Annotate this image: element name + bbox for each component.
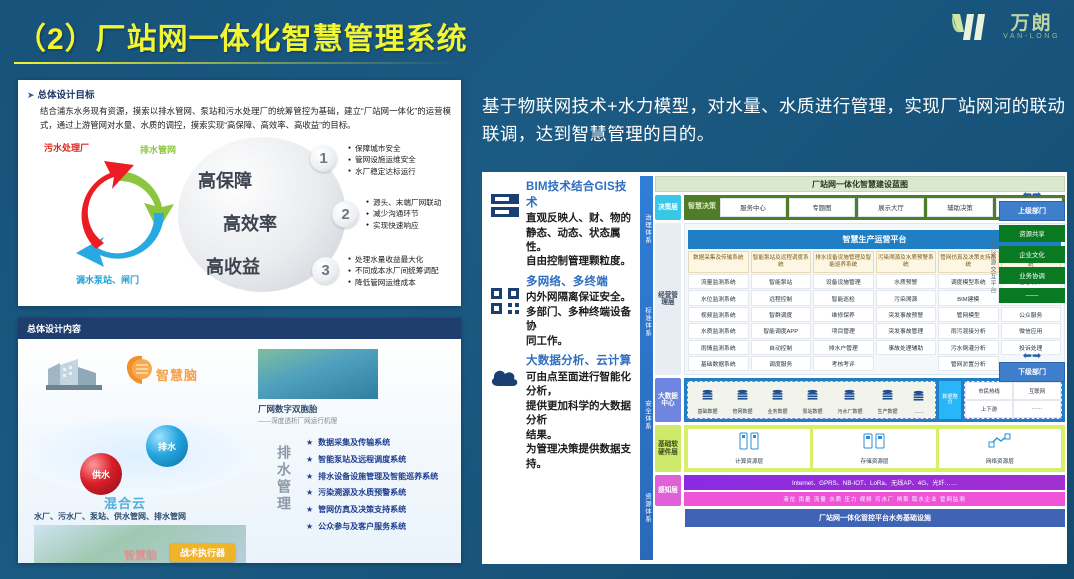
list-item: 管网仿真及决策支持系统 xyxy=(306,502,438,519)
pillar-1: 高保障 xyxy=(198,167,252,193)
system-cell[interactable]: 基础数据系统 xyxy=(688,356,749,371)
superior-department-button[interactable]: 上级部门 xyxy=(999,201,1065,221)
database-icon xyxy=(806,389,819,402)
system-cell[interactable]: 智能巡检 xyxy=(813,290,874,305)
architecture-figure: BIM技术结合GIS技术 直观反映人、财、物的 静态、动态、状态属性。 自由控制… xyxy=(482,172,1067,564)
side-system: 标准体系 xyxy=(642,307,652,337)
feature-line: 多部门、多种终端设备协 xyxy=(526,305,636,334)
infrastructure-item[interactable]: 计算资源层 xyxy=(688,429,810,468)
database-caption: 泵站数据 xyxy=(802,408,822,415)
system-cell[interactable]: 智能泵站 xyxy=(751,274,812,289)
feature-line: 内外网隔离保证安全。 xyxy=(526,290,636,304)
decision-box[interactable]: 专题图 xyxy=(789,198,855,217)
sphere-drainage: 排水 xyxy=(146,425,188,467)
database-caption: …… xyxy=(912,409,925,415)
database-icon xyxy=(701,389,714,402)
feature-line: 静态、动态、状态属性。 xyxy=(526,226,636,255)
system-cell[interactable]: 维修保养 xyxy=(813,307,874,322)
side-system: 资源体系 xyxy=(642,493,652,523)
label-wastewater-plant: 污水处理厂 xyxy=(44,141,89,154)
database-icon xyxy=(843,389,856,402)
system-cell[interactable]: 事故处理辅助 xyxy=(876,340,937,355)
system-cell[interactable]: 污水倒灌分析 xyxy=(938,340,999,355)
infrastructure-item[interactable]: 存储资源层 xyxy=(813,429,935,468)
system-cell[interactable]: 智群调度 xyxy=(751,307,812,322)
design-content-heading: 总体设计内容 xyxy=(18,318,461,339)
public-resource-platform-label: 公共资源交互平台 xyxy=(988,238,997,294)
system-cell[interactable]: 排水户管理 xyxy=(813,340,874,355)
list-item: 数据采集及传输系统 xyxy=(306,435,438,452)
feature-head: 大数据分析、云计算 xyxy=(526,354,636,370)
side-system: 治理体系 xyxy=(642,214,652,244)
layer-tag-sensing: 感知层 xyxy=(655,475,681,506)
database-item[interactable]: 泵站数据 xyxy=(802,389,822,415)
feature-head: 多网络、多终端 xyxy=(526,275,636,291)
architecture-feature-list: BIM技术结合GIS技术 直观反映人、财、物的 静态、动态、状态属性。 自由控制… xyxy=(482,172,642,564)
drainage-management-vertical-label: 排水管理 xyxy=(274,445,294,513)
external-green-item[interactable]: 资源共享 xyxy=(999,225,1065,242)
label-drainage-network: 排水管网 xyxy=(140,143,176,156)
system-cell[interactable]: 智能调度APP xyxy=(751,323,812,338)
subordinate-department-button[interactable]: 下级部门 xyxy=(999,362,1065,382)
design-goal-paragraph: 结合浦东水务现有资源，摸索以排水管网、泵站和污水处理厂的统筹管控为基础，建立“厂… xyxy=(18,102,461,133)
layer-tag-management: 经营管理层 xyxy=(655,223,681,375)
decision-box[interactable]: 服务中心 xyxy=(720,198,786,217)
database-caption: 基础数据 xyxy=(697,408,717,415)
system-cell[interactable]: 雨情监测系统 xyxy=(688,340,749,355)
double-arrow-icon-bottom: ⬅➡ xyxy=(999,351,1065,362)
goal-bullets-3: 处理水量收益最大化不同成本水厂间统筹调配降低管网运维成本 xyxy=(348,254,439,289)
brain-icon xyxy=(122,353,156,387)
layer-tag-infrastructure: 基础软硬件层 xyxy=(655,425,681,472)
database-icon xyxy=(881,389,894,402)
system-cell[interactable]: 水位监测系统 xyxy=(688,290,749,305)
infrastructure-caption: 存储资源层 xyxy=(814,457,934,465)
cloud-icon xyxy=(490,354,520,393)
system-cell[interactable]: 调度服务 xyxy=(751,356,812,371)
architecture-side-systems: 治理体系 标准体系 安全体系 资源体系 xyxy=(640,176,653,560)
feature-line: 直观反映人、财、物的 xyxy=(526,211,636,225)
design-content-card: 总体设计内容 智慧脑 排水 供水 混合云 水厂、污水厂、泵站、供水管网、排水管网… xyxy=(18,318,461,563)
database-icon xyxy=(771,389,784,402)
system-list: 数据采集及传输系统 智能泵站及远程调度系统 排水设备设施管理及智能巡养系统 污染… xyxy=(306,435,438,536)
brand-logo: 万朗 VAN-LONG xyxy=(950,10,1060,44)
decision-box[interactable]: 展示大厅 xyxy=(858,198,924,217)
compute-icon xyxy=(736,432,762,450)
layer-tag-bigdata: 大数据中心 xyxy=(655,378,681,422)
system-cell[interactable]: 视频监测系统 xyxy=(688,307,749,322)
logo-english: VAN-LONG xyxy=(1003,33,1060,40)
cloud-backdrop xyxy=(24,417,254,495)
storage-icon xyxy=(861,432,887,450)
architecture-diagram: 治理体系 标准体系 安全体系 资源体系 厂站网一体化智慧建设蓝图 决策层 智慧决… xyxy=(640,172,1067,564)
list-item: 智能泵站及远程调度系统 xyxy=(306,452,438,469)
feature-line: 同工作。 xyxy=(526,334,636,348)
goal-bullets-2: 源头、末端厂网联动减少沟通环节实现快速响应 xyxy=(366,197,441,232)
database-caption: 生产数据 xyxy=(877,408,897,415)
double-arrow-icon-top: ⬅➡ xyxy=(999,190,1065,201)
feature-line: 为管理决策提供数据支持。 xyxy=(526,442,636,471)
system-head: 排水设备设施管理及智能巡养系统 xyxy=(813,251,874,273)
system-cell[interactable]: 远程控制 xyxy=(751,290,812,305)
feature-head: BIM技术结合GIS技术 xyxy=(526,180,636,211)
system-column: 污染溯源及水质预警系统 水质预警 污染溯源 突发事故预警 突发事故管理 事故处理… xyxy=(876,251,937,371)
design-goal-heading: ➤总体设计目标 xyxy=(18,80,461,102)
list-item: 排水设备设施管理及智能巡养系统 xyxy=(306,469,438,486)
design-content-body: 智慧脑 排水 供水 混合云 水厂、污水厂、泵站、供水管网、排水管网 厂网数字双胞… xyxy=(18,339,461,563)
public-resource-platform-label-wrap: 公共资源交互平台 xyxy=(988,232,997,300)
system-cell[interactable]: 雨污混接分析 xyxy=(938,323,999,338)
system-column: 智能泵站及远程调度系统 智能泵站 远程控制 智群调度 智能调度APP 自动控制 … xyxy=(751,251,812,371)
title-underline xyxy=(14,62,459,64)
list-item: 公众参与及客户服务系统 xyxy=(306,519,438,536)
pillar-3: 高收益 xyxy=(206,253,260,279)
smart-brain-label: 智慧脑 xyxy=(156,365,198,384)
hybrid-cloud-label: 混合云 xyxy=(104,493,146,512)
logo-text: 万朗 VAN-LONG xyxy=(1003,14,1060,41)
feature-block-bim-gis: BIM技术结合GIS技术 直观反映人、财、物的 静态、动态、状态属性。 自由控制… xyxy=(490,180,636,269)
database-icon xyxy=(736,389,749,402)
feature-line: 自由控制管理颗粒度。 xyxy=(526,254,636,268)
arrow-bullet-icon: ➤ xyxy=(27,90,35,100)
design-goal-card: ➤总体设计目标 结合浦东水务现有资源，摸索以排水管网、泵站和污水处理厂的统筹管控… xyxy=(18,80,461,306)
label-pump-gate: 调水泵站、闸门 xyxy=(76,273,139,286)
system-head: 智能泵站及远程调度系统 xyxy=(751,251,812,273)
sphere-supply: 供水 xyxy=(80,453,122,495)
system-cell[interactable]: 设备设施管理 xyxy=(813,274,874,289)
list-item: 污染溯源及水质预警系统 xyxy=(306,485,438,502)
system-head: 数据采集及传输系统 xyxy=(688,251,749,273)
buildings-icon xyxy=(44,355,108,397)
database-caption: 管网数据 xyxy=(732,408,752,415)
feature-line: 提供更加科学的大数据分析 xyxy=(526,399,636,428)
system-cell[interactable]: 管网模型 xyxy=(938,307,999,322)
system-column: 数据采集及传输系统 流量监测系统 水位监测系统 视频监测系统 水质监测系统 雨情… xyxy=(688,251,749,371)
feature-line: 可由点至面进行智能化分析， xyxy=(526,370,636,399)
system-cell[interactable]: 突发事故管理 xyxy=(876,323,937,338)
database-item[interactable]: 管网数据 xyxy=(732,389,752,415)
hybrid-cloud-sublabel: 水厂、污水厂、泵站、供水管网、排水管网 xyxy=(34,511,186,522)
cycle-arrows-icon xyxy=(40,149,200,284)
database-caption: 污水厂数据 xyxy=(837,408,862,415)
external-green-item[interactable]: 业务协调 xyxy=(999,267,1065,284)
external-departments-column: ⬅➡ 上级部门 资源共享 企业文化 业务协调 —— ⬅➡ 下级部门 xyxy=(999,190,1065,540)
wanlang-w-mark xyxy=(950,10,996,44)
system-cell[interactable]: 水质预警 xyxy=(876,274,937,289)
data-integration-label: 数据整合 xyxy=(939,381,961,419)
system-cell[interactable]: 流量监测系统 xyxy=(688,274,749,289)
layer-tag-decision: 决策层 xyxy=(655,195,681,220)
feature-block-multi-network: 多网络、多终端 内外网隔离保证安全。 多部门、多种终端设备协 同工作。 xyxy=(490,275,636,348)
page-title: （2）厂站网一体化智慧管理系统 xyxy=(16,14,468,58)
side-system: 安全体系 xyxy=(642,400,652,430)
step-number-2: 2 xyxy=(332,201,359,228)
tactic-executor-button[interactable]: 战术执行器 xyxy=(170,543,235,562)
database-item[interactable]: 生产数据 xyxy=(877,389,897,415)
database-item[interactable]: 污水厂数据 xyxy=(837,389,862,415)
system-cell[interactable]: 水质监测系统 xyxy=(688,323,749,338)
infrastructure-caption: 计算资源层 xyxy=(689,457,809,465)
system-cell[interactable]: 项目管理 xyxy=(813,323,874,338)
goal-diagram: 污水处理厂 排水管网 调水泵站、闸门 高保障 高效率 高收益 1 2 3 保障城… xyxy=(18,135,461,297)
system-cell[interactable]: 管网淤置分析 xyxy=(938,356,999,371)
server-icon xyxy=(490,180,520,223)
logo-chinese: 万朗 xyxy=(1011,14,1053,34)
qr-network-icon xyxy=(490,275,520,320)
system-cell[interactable]: 自动控制 xyxy=(751,340,812,355)
database-caption: 业务数据 xyxy=(767,408,787,415)
system-cell[interactable]: 污染溯源 xyxy=(876,290,937,305)
smart-brain-label-2: 智慧脑 xyxy=(124,547,157,563)
system-head: 污染溯源及水质预警系统 xyxy=(876,251,937,273)
database-item[interactable]: …… xyxy=(912,390,925,415)
external-green-item[interactable]: —— xyxy=(999,288,1065,303)
goal-bullets-1: 保障城市安全管网设施运维安全水厂稳定达标运行 xyxy=(348,143,416,178)
step-number-1: 1 xyxy=(310,145,337,172)
decision-box[interactable]: 辅助决策 xyxy=(927,198,993,217)
system-cell[interactable]: 突发事故预警 xyxy=(876,307,937,322)
database-icon xyxy=(912,390,925,403)
digital-twin-title: 厂网数字双胞胎 xyxy=(258,403,318,415)
digital-twin-subtitle: ——深度透析厂网运行机理 xyxy=(258,415,337,425)
feature-block-bigdata-cloud: 大数据分析、云计算 可由点至面进行智能化分析， 提供更加科学的大数据分析 结果。… xyxy=(490,354,636,471)
database-item[interactable]: 基础数据 xyxy=(697,389,717,415)
system-column: 排水设备设施管理及智能巡养系统 设备设施管理 智能巡检 维修保养 项目管理 排水… xyxy=(813,251,874,371)
external-green-item[interactable]: 企业文化 xyxy=(999,246,1065,263)
feature-line: 结果。 xyxy=(526,428,636,442)
decision-band-label: 智慧决策 xyxy=(687,203,717,211)
database-strip: 基础数据 管网数据 业务数据 泵站数据 xyxy=(687,381,936,419)
system-cell[interactable]: 考核考评 xyxy=(813,356,874,371)
pillar-2: 高效率 xyxy=(223,210,277,236)
database-item[interactable]: 业务数据 xyxy=(767,389,787,415)
intro-paragraph: 基于物联网技术+水力模型，对水量、水质进行管理，实现厂站网河的联动联调，达到智慧… xyxy=(482,92,1067,149)
step-number-3: 3 xyxy=(312,257,339,284)
digital-twin-image xyxy=(258,349,378,399)
